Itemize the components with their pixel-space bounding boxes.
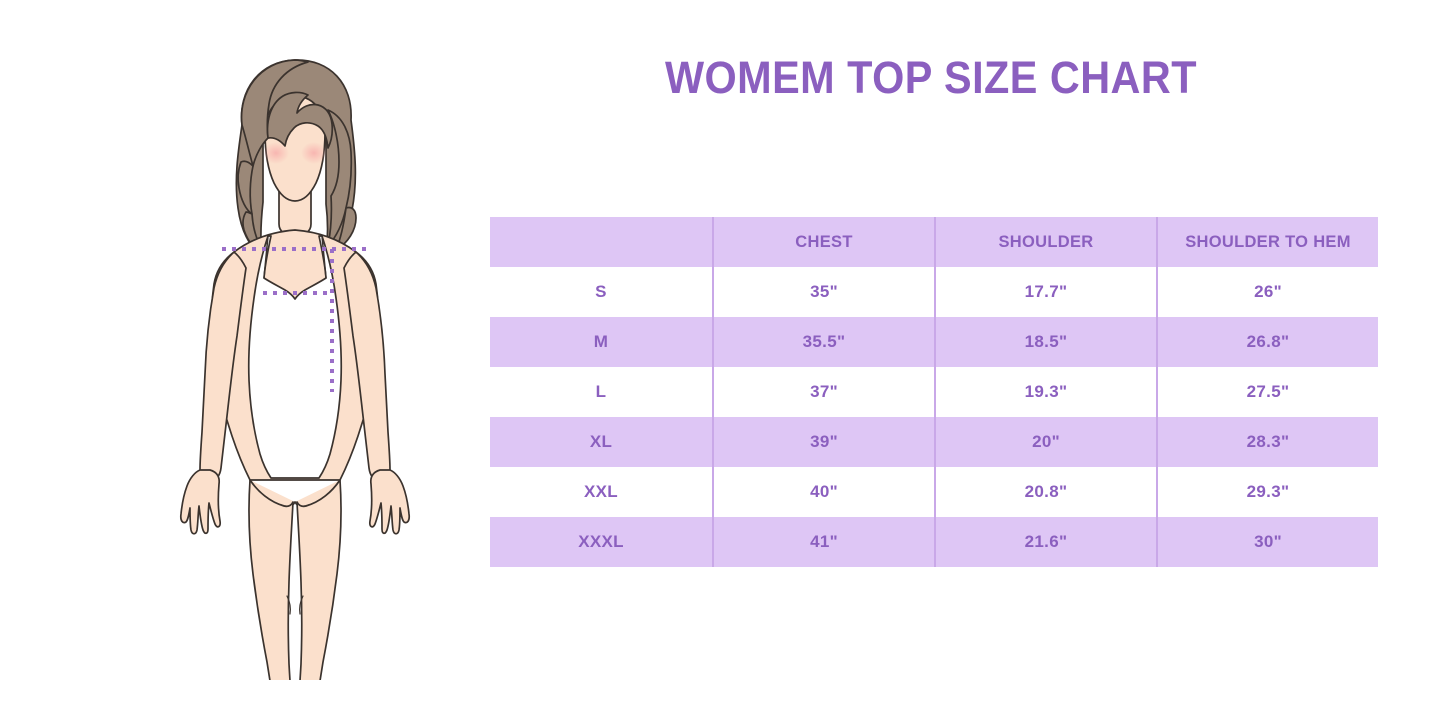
cell-size: XXXL bbox=[490, 517, 713, 567]
cell-shoulder: 19.3" bbox=[935, 367, 1157, 417]
illustration-panel: SHOULDER CHEST SHOULDER TO HEM bbox=[0, 0, 470, 723]
table-row: M 35.5" 18.5" 26.8" bbox=[490, 317, 1378, 367]
table-row: S 35" 17.7" 26" bbox=[490, 267, 1378, 317]
cell-shoulder-to-hem: 29.3" bbox=[1157, 467, 1378, 517]
column-header-shoulder: SHOULDER bbox=[935, 217, 1157, 267]
blush-right bbox=[301, 142, 327, 164]
table-row: L 37" 19.3" 27.5" bbox=[490, 367, 1378, 417]
female-body-illustration bbox=[150, 40, 440, 680]
cell-shoulder-to-hem: 26.8" bbox=[1157, 317, 1378, 367]
cell-size: L bbox=[490, 367, 713, 417]
page-title: WOMEM TOP SIZE CHART bbox=[525, 52, 1336, 104]
table-row: XXL 40" 20.8" 29.3" bbox=[490, 467, 1378, 517]
leg-left bbox=[249, 480, 296, 680]
cell-shoulder: 20.8" bbox=[935, 467, 1157, 517]
table-header-row: CHEST SHOULDER SHOULDER TO HEM bbox=[490, 217, 1378, 267]
cell-shoulder-to-hem: 28.3" bbox=[1157, 417, 1378, 467]
cell-shoulder: 21.6" bbox=[935, 517, 1157, 567]
cell-chest: 35" bbox=[713, 267, 935, 317]
cell-size: XL bbox=[490, 417, 713, 467]
hand-right bbox=[370, 470, 409, 534]
leg-right bbox=[294, 480, 341, 680]
hand-left bbox=[181, 470, 220, 534]
cell-size: M bbox=[490, 317, 713, 367]
cell-chest: 37" bbox=[713, 367, 935, 417]
cell-size: XXL bbox=[490, 467, 713, 517]
cell-chest: 41" bbox=[713, 517, 935, 567]
table-header: CHEST SHOULDER SHOULDER TO HEM bbox=[490, 217, 1378, 267]
table-body: S 35" 17.7" 26" M 35.5" 18.5" 26.8" L 37… bbox=[490, 267, 1378, 567]
cell-shoulder: 18.5" bbox=[935, 317, 1157, 367]
size-chart-table: CHEST SHOULDER SHOULDER TO HEM S 35" 17.… bbox=[490, 217, 1378, 567]
column-header-shoulder-to-hem: SHOULDER TO HEM bbox=[1157, 217, 1378, 267]
size-chart-page: SHOULDER CHEST SHOULDER TO HEM WOMEM TOP… bbox=[0, 0, 1445, 723]
cell-size: S bbox=[490, 267, 713, 317]
table-row: XXXL 41" 21.6" 30" bbox=[490, 517, 1378, 567]
cell-chest: 40" bbox=[713, 467, 935, 517]
column-header-chest: CHEST bbox=[713, 217, 935, 267]
cell-shoulder-to-hem: 26" bbox=[1157, 267, 1378, 317]
cell-chest: 35.5" bbox=[713, 317, 935, 367]
cell-shoulder: 20" bbox=[935, 417, 1157, 467]
cell-shoulder-to-hem: 27.5" bbox=[1157, 367, 1378, 417]
column-header-size bbox=[490, 217, 713, 267]
table-row: XL 39" 20" 28.3" bbox=[490, 417, 1378, 467]
cell-shoulder: 17.7" bbox=[935, 267, 1157, 317]
cell-shoulder-to-hem: 30" bbox=[1157, 517, 1378, 567]
cell-chest: 39" bbox=[713, 417, 935, 467]
